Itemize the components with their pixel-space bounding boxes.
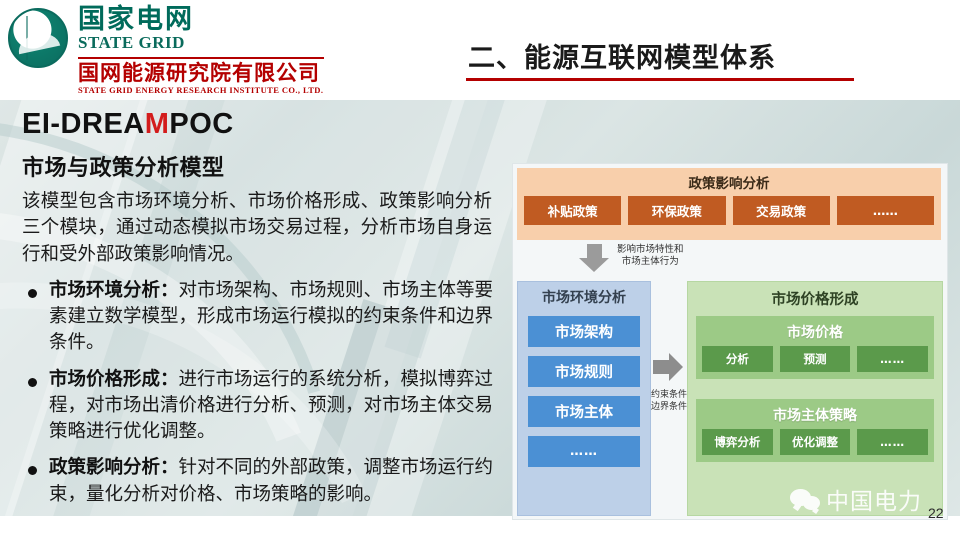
model-name-prefix: EI-DREA	[22, 108, 145, 140]
model-subtitle: 市场与政策分析模型	[22, 150, 502, 182]
price-formation-title: 市场价格形成	[688, 282, 942, 309]
bullet-separator: ：	[160, 369, 179, 390]
state-grid-logo: 国家电网 STATE GRID 国网能源研究院有限公司 STATE GRID E…	[8, 6, 324, 95]
bullet-term: 市场价格形成	[49, 369, 160, 390]
policy-box-environment[interactable]: 环保政策	[628, 196, 725, 225]
logo-institute-cn: 国网能源研究院有限公司	[78, 62, 324, 84]
logo-company-en: STATE GRID	[78, 33, 324, 53]
bullet-text: 市场环境分析：对市场架构、市场规则、市场主体等要素建立数学模型，形成市场运行模拟…	[49, 278, 501, 357]
model-name: EI-DREAMPOC	[22, 108, 502, 141]
list-item: 市场环境分析：对市场架构、市场规则、市场主体等要素建立数学模型，形成市场运行模拟…	[22, 278, 502, 357]
page-number: 22	[928, 505, 944, 521]
bullet-dot-icon	[28, 378, 37, 387]
market-env-box-structure[interactable]: 市场架构	[528, 316, 640, 347]
down-arrow-label-line2: 市场主体行为	[617, 256, 684, 268]
right-arrow-head	[669, 353, 683, 381]
policy-section-title: 政策影响分析	[517, 168, 941, 192]
bullet-text: 市场价格形成：进行市场运行的系统分析，模拟博弈过程，对市场出清价格进行分析、预测…	[49, 367, 501, 446]
market-env-box-rules[interactable]: 市场规则	[528, 356, 640, 387]
right-arrow-label: 约束条件 边界条件	[651, 390, 687, 413]
down-arrow-head	[579, 258, 609, 272]
market-price-box-row: 分析 预测 ……	[702, 346, 928, 372]
list-item: 政策影响分析：针对不同的外部政策，调整市场运行约束，量化分析对价格、市场策略的影…	[22, 455, 502, 508]
wechat-icon	[790, 487, 822, 512]
strategy-box-optimization[interactable]: 优化调整	[780, 429, 851, 455]
watermark-label: 中国电力	[826, 482, 922, 516]
model-name-highlight: M	[145, 108, 170, 140]
page-title: 二、能源互联网模型体系	[468, 36, 776, 75]
wechat-watermark: 中国电力	[790, 482, 922, 516]
market-env-box-participants[interactable]: 市场主体	[528, 396, 640, 427]
bullet-dot-icon	[28, 466, 37, 475]
market-price-box-forecast[interactable]: 预测	[780, 346, 851, 372]
policy-impact-section: 政策影响分析 补贴政策 环保政策 交易政策 ……	[517, 168, 941, 240]
policy-box-more[interactable]: ……	[837, 196, 934, 225]
market-price-box-analysis[interactable]: 分析	[702, 346, 773, 372]
bullet-list: 市场环境分析：对市场架构、市场规则、市场主体等要素建立数学模型，形成市场运行模拟…	[22, 278, 502, 508]
policy-box-trade[interactable]: 交易政策	[733, 196, 830, 225]
bullet-separator: ：	[160, 457, 179, 478]
policy-box-subsidy[interactable]: 补贴政策	[524, 196, 621, 225]
market-price-box-more[interactable]: ……	[857, 346, 928, 372]
logo-company-cn: 国家电网	[78, 6, 324, 34]
bullet-dot-icon	[28, 289, 37, 298]
wechat-bubble-small	[803, 496, 820, 510]
down-arrow-label-line1: 影响市场特性和	[617, 244, 684, 256]
state-grid-emblem-icon	[8, 8, 68, 68]
model-description: 该模型包含市场环境分析、市场价格形成、政策影响分析三个模块，通过动态模拟市场交易…	[22, 189, 492, 268]
market-price-group: 市场价格 分析 预测 ……	[696, 316, 934, 379]
price-formation-section: 市场价格形成 市场价格 分析 预测 …… 市场主体策略 博弈分析 优化调整 ……	[687, 281, 943, 516]
slide: 国家电网 STATE GRID 国网能源研究院有限公司 STATE GRID E…	[0, 0, 960, 540]
slide-header: 国家电网 STATE GRID 国网能源研究院有限公司 STATE GRID E…	[0, 0, 960, 100]
content-column: EI-DREAMPOC 市场与政策分析模型 该模型包含市场环境分析、市场价格形成…	[22, 108, 502, 508]
market-environment-title: 市场环境分析	[518, 282, 650, 307]
list-item: 市场价格形成：进行市场运行的系统分析，模拟博弈过程，对市场出清价格进行分析、预测…	[22, 367, 502, 446]
participant-strategy-group-title: 市场主体策略	[702, 403, 928, 429]
logo-text-block: 国家电网 STATE GRID 国网能源研究院有限公司 STATE GRID E…	[78, 6, 324, 95]
bullet-term: 市场环境分析	[49, 280, 160, 301]
market-env-box-more[interactable]: ……	[528, 436, 640, 467]
participant-strategy-box-row: 博弈分析 优化调整 ……	[702, 429, 928, 455]
bullet-term: 政策影响分析	[49, 457, 160, 478]
logo-divider	[78, 57, 324, 59]
down-arrow-label: 影响市场特性和 市场主体行为	[617, 244, 684, 268]
title-underline	[466, 78, 854, 81]
participant-strategy-group: 市场主体策略 博弈分析 优化调整 ……	[696, 399, 934, 462]
strategy-box-game-analysis[interactable]: 博弈分析	[702, 429, 773, 455]
logo-institute-en: STATE GRID ENERGY RESEARCH INSTITUTE CO.…	[78, 85, 324, 95]
bullet-separator: ：	[160, 280, 179, 301]
right-arrow-label-line2: 边界条件	[651, 402, 687, 414]
policy-box-row: 补贴政策 环保政策 交易政策 ……	[517, 192, 941, 225]
bullet-text: 政策影响分析：针对不同的外部政策，调整市场运行约束，量化分析对价格、市场策略的影…	[49, 455, 501, 508]
right-arrow-label-line1: 约束条件	[651, 390, 687, 402]
market-price-group-title: 市场价格	[702, 320, 928, 346]
strategy-box-more[interactable]: ……	[857, 429, 928, 455]
right-arrow-shaft	[653, 360, 670, 374]
model-name-suffix: POC	[169, 108, 233, 140]
architecture-diagram: 政策影响分析 补贴政策 环保政策 交易政策 …… 影响市场特性和 市场主体行为 …	[512, 163, 948, 520]
market-environment-section: 市场环境分析 市场架构 市场规则 市场主体 ……	[517, 281, 651, 516]
